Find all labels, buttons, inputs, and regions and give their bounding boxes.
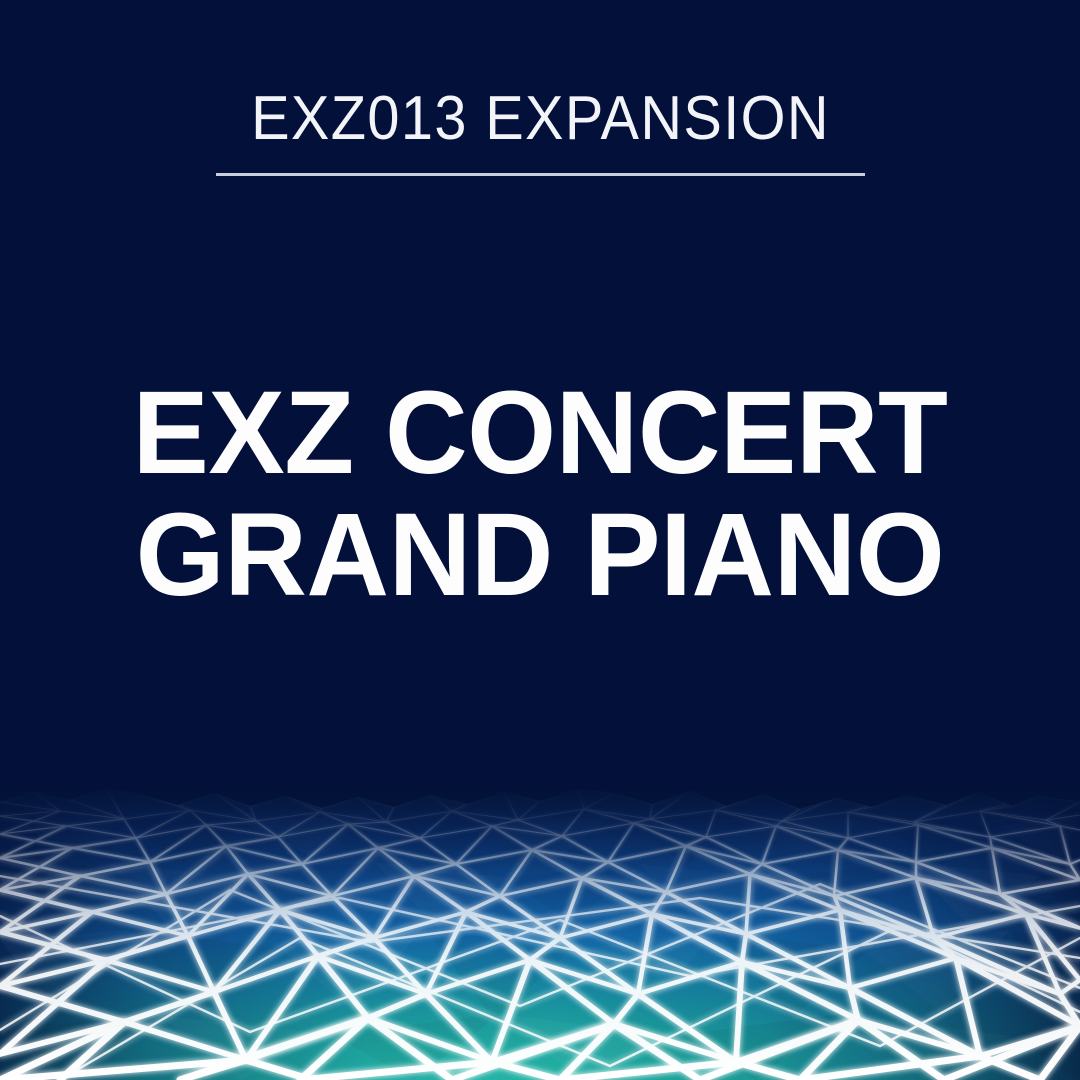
eyebrow-label: EXZ013 EXPANSION (239, 84, 843, 154)
page-title: EXZ CONCERT GRAND PIANO (0, 372, 1080, 616)
title-line-1: EXZ CONCERT (16, 372, 1064, 494)
wireframe-mesh-svg (0, 780, 1080, 1080)
low-poly-wireframe-landscape (0, 780, 1080, 1080)
eyebrow-block: EXZ013 EXPANSION (216, 84, 865, 154)
eyebrow-divider-rule (216, 173, 865, 176)
title-line-2: GRAND PIANO (16, 494, 1064, 616)
album-cover-artwork: EXZ013 EXPANSION EXZ CONCERT GRAND PIANO (0, 0, 1080, 1080)
horizon-haze-overlay (0, 780, 1080, 1080)
